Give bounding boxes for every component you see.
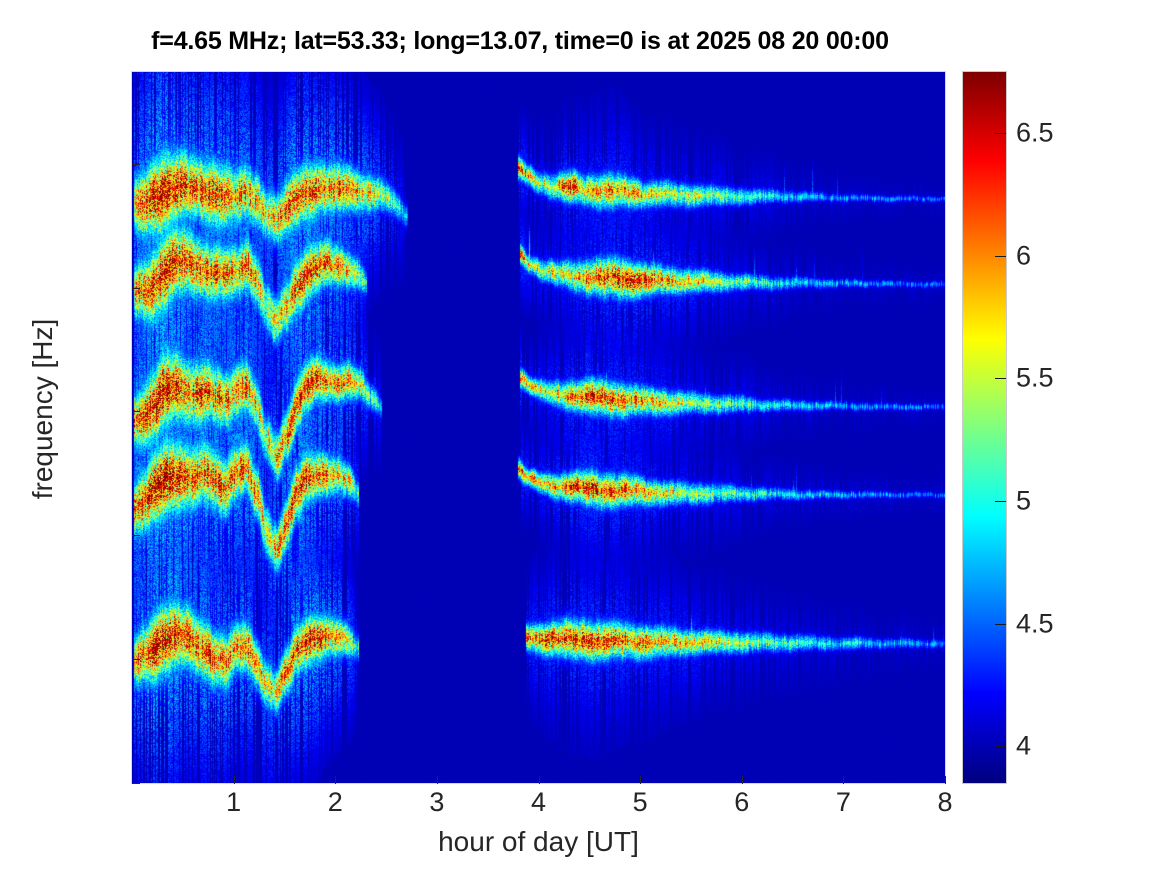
colorbar-tick-label: 5.5 bbox=[1016, 363, 1054, 394]
figure-spectrogram: f=4.65 MHz; lat=53.33; long=13.07, time=… bbox=[0, 0, 1167, 875]
x-tick-mark bbox=[640, 776, 641, 784]
colorbar-tick-mark bbox=[995, 378, 1006, 379]
colorbar-tick-label: 4 bbox=[1016, 731, 1031, 762]
x-tick-label: 2 bbox=[328, 787, 343, 818]
y-tick-mark bbox=[132, 164, 140, 165]
x-tick-label: 1 bbox=[226, 787, 241, 818]
y-tick-mark bbox=[132, 411, 140, 412]
x-tick-label: 4 bbox=[531, 787, 546, 818]
y-tick-mark bbox=[132, 288, 140, 289]
colorbar-tick-label: 6 bbox=[1016, 240, 1031, 271]
x-tick-mark bbox=[234, 776, 235, 784]
y-tick-mark bbox=[132, 535, 140, 536]
x-tick-mark bbox=[335, 776, 336, 784]
x-tick-label: 3 bbox=[429, 787, 444, 818]
x-tick-mark bbox=[945, 776, 946, 784]
colorbar-tick-mark bbox=[995, 746, 1006, 747]
x-tick-label: 8 bbox=[937, 787, 952, 818]
x-tick-label: 6 bbox=[734, 787, 749, 818]
colorbar-tick-label: 6.5 bbox=[1016, 118, 1054, 149]
colorbar-tick-label: 5 bbox=[1016, 486, 1031, 517]
y-tick-mark bbox=[132, 659, 140, 660]
page-title: f=4.65 MHz; lat=53.33; long=13.07, time=… bbox=[0, 27, 1040, 56]
colorbar-gradient bbox=[963, 72, 1006, 783]
x-tick-label: 7 bbox=[836, 787, 851, 818]
colorbar-tick-mark bbox=[995, 256, 1006, 257]
x-tick-mark bbox=[437, 776, 438, 784]
y-tick-mark bbox=[132, 783, 140, 784]
y-axis-label: frequency [Hz] bbox=[27, 289, 59, 529]
x-axis-label: hour of day [UT] bbox=[132, 826, 945, 858]
axes-plot-area bbox=[132, 72, 945, 783]
colorbar bbox=[963, 72, 1006, 783]
colorbar-tick-mark bbox=[995, 501, 1006, 502]
x-tick-label: 5 bbox=[633, 787, 648, 818]
x-tick-mark bbox=[539, 776, 540, 784]
spectrogram-canvas bbox=[132, 72, 945, 783]
colorbar-tick-label: 4.5 bbox=[1016, 608, 1054, 639]
colorbar-tick-mark bbox=[995, 133, 1006, 134]
x-tick-mark bbox=[742, 776, 743, 784]
colorbar-tick-mark bbox=[995, 624, 1006, 625]
x-tick-mark bbox=[843, 776, 844, 784]
